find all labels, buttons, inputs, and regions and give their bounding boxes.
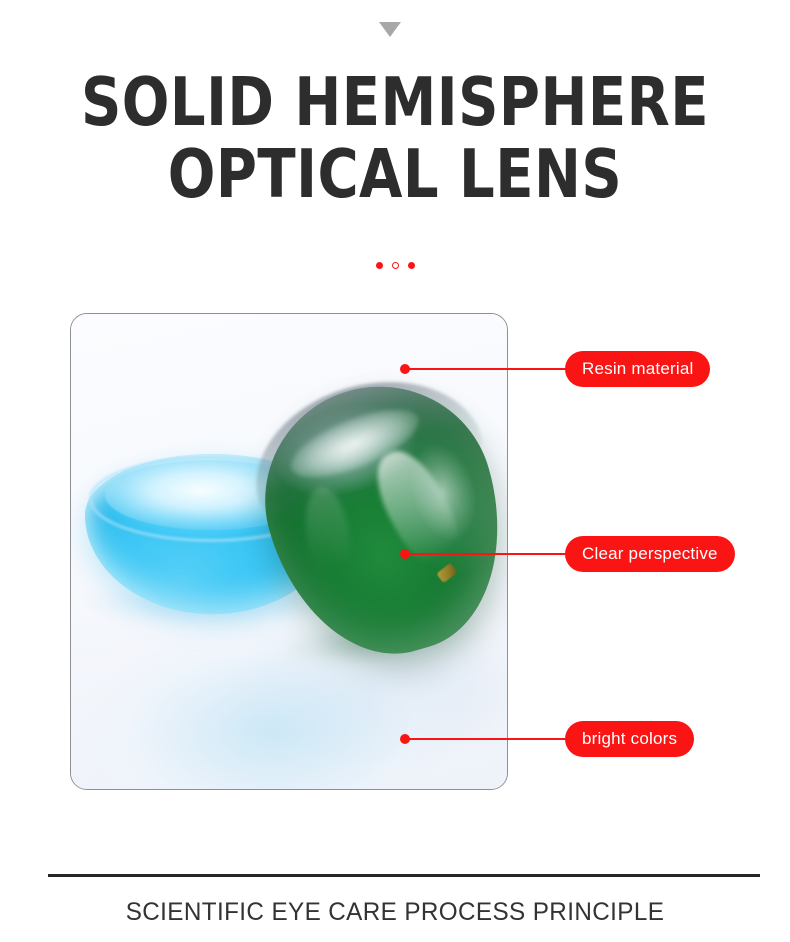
callout-bright-colors: bright colors xyxy=(400,721,730,757)
page-title-line-1: SOLID HEMISPHERE xyxy=(28,66,763,138)
callout-label-badge[interactable]: Clear perspective xyxy=(565,536,735,572)
callout-leader-line xyxy=(407,738,570,740)
footer-divider xyxy=(48,874,760,877)
triangle-down-icon xyxy=(379,22,401,37)
callout-label-badge[interactable]: bright colors xyxy=(565,721,694,757)
dot-separator xyxy=(0,262,790,269)
callout-leader-line xyxy=(407,368,570,370)
callout-label-badge[interactable]: Resin material xyxy=(565,351,710,387)
product-banner-page: SOLID HEMISPHERE OPTICAL LENS xyxy=(0,0,790,942)
callout-clear-perspective: Clear perspective xyxy=(400,536,730,572)
dot-indicator-3 xyxy=(408,262,415,269)
page-title: SOLID HEMISPHERE OPTICAL LENS xyxy=(0,66,790,210)
page-title-line-2: OPTICAL LENS xyxy=(28,138,763,210)
callout-leader-line xyxy=(407,553,570,555)
footer-caption: SCIENTIFIC EYE CARE PROCESS PRINCIPLE xyxy=(12,898,778,927)
dot-indicator-2 xyxy=(392,262,399,269)
dot-indicator-1 xyxy=(376,262,383,269)
green-hemisphere-lens xyxy=(238,360,508,680)
callout-resin-material: Resin material xyxy=(400,351,730,387)
